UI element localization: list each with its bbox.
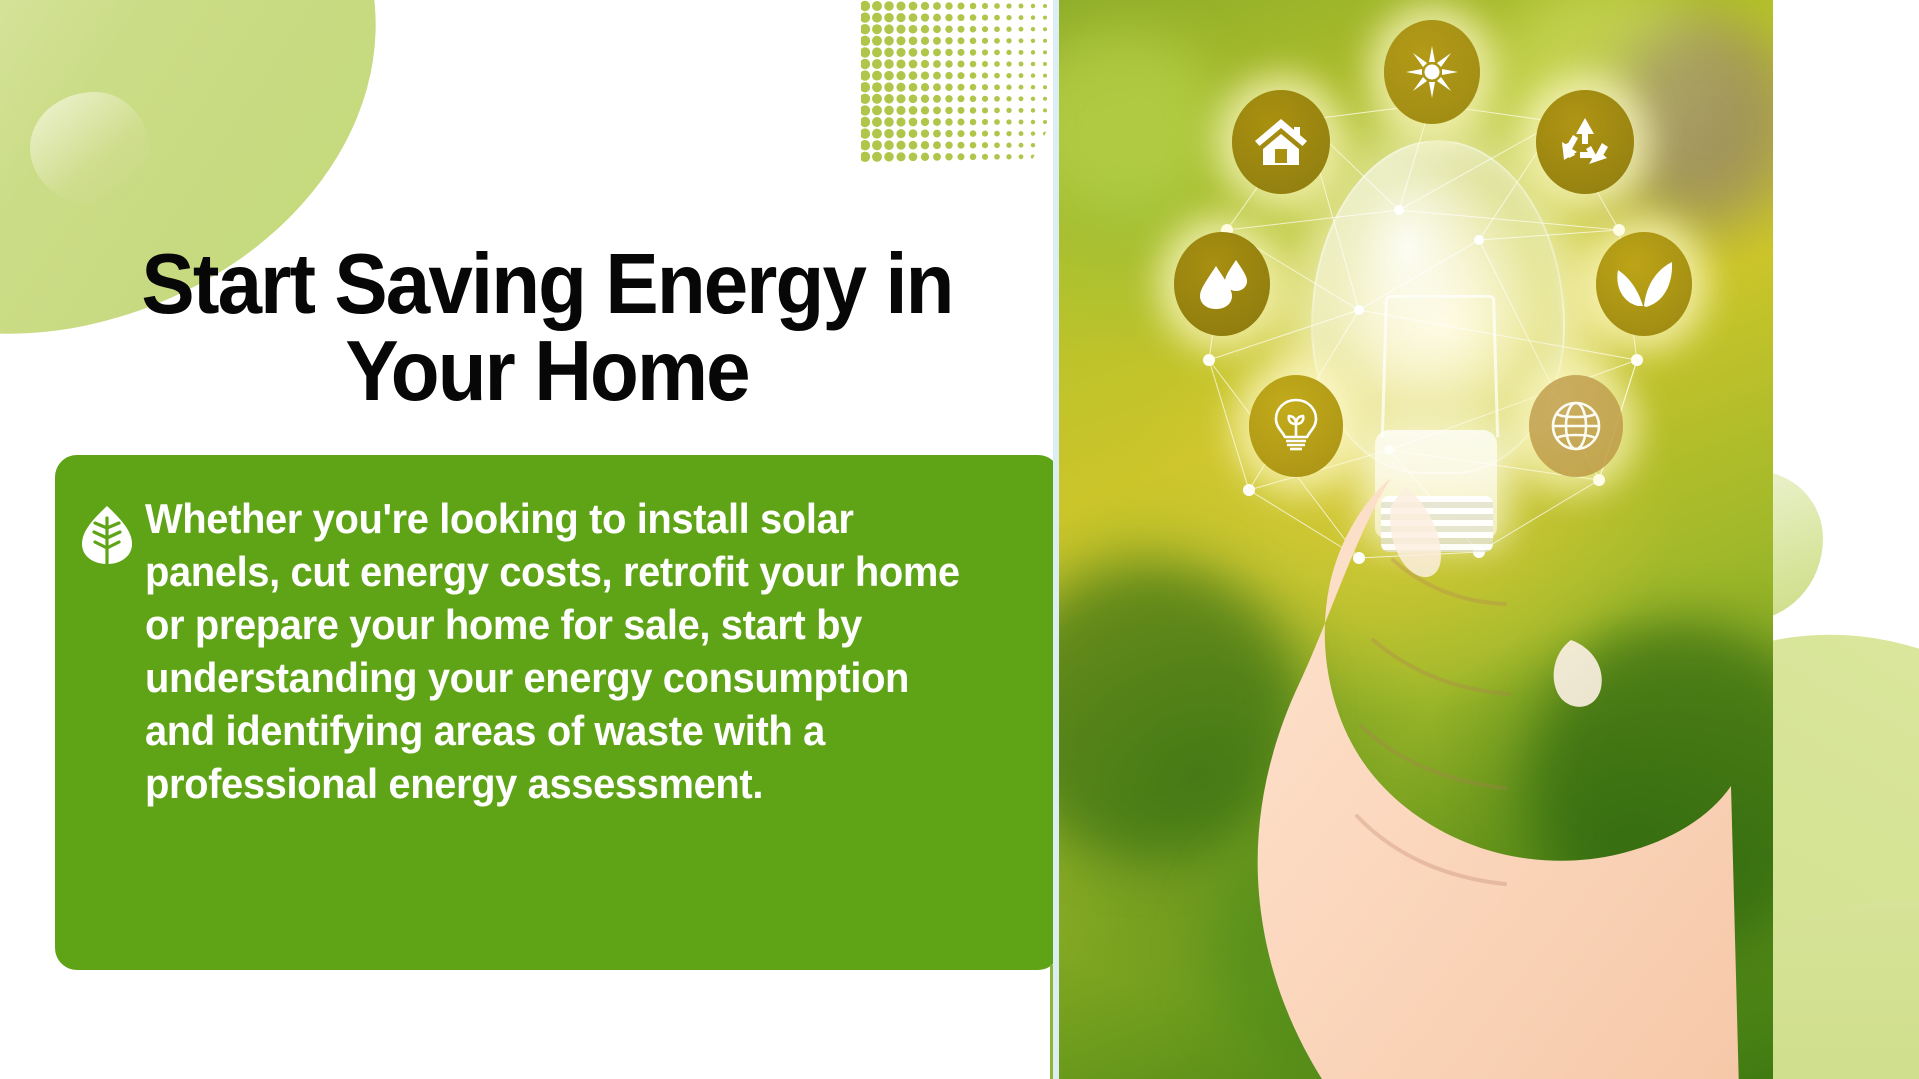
dot-pattern-decoration [861, 0, 1061, 169]
slide-canvas: Start Saving Energy in Your Home Whether… [0, 0, 1919, 1079]
decorative-blob-top-left-small [30, 92, 150, 204]
leaf-icon [79, 505, 135, 571]
page-title: Start Saving Energy in Your Home [91, 242, 1003, 415]
lightbulb-filament [1381, 295, 1499, 437]
water-drop-icon [1174, 232, 1270, 336]
sun-icon [1384, 20, 1480, 124]
eco-bulb-icon [1249, 375, 1343, 477]
globe-icon [1529, 375, 1623, 477]
plant-leaf-icon [1596, 232, 1692, 336]
house-icon [1232, 90, 1330, 194]
callout-card: Whether you're looking to install solar … [55, 455, 1060, 970]
callout-body-text: Whether you're looking to install solar … [145, 493, 976, 810]
hand [1179, 470, 1739, 1079]
recycle-icon [1536, 90, 1634, 194]
hand-holding-lightbulb-photo [1059, 0, 1773, 1079]
